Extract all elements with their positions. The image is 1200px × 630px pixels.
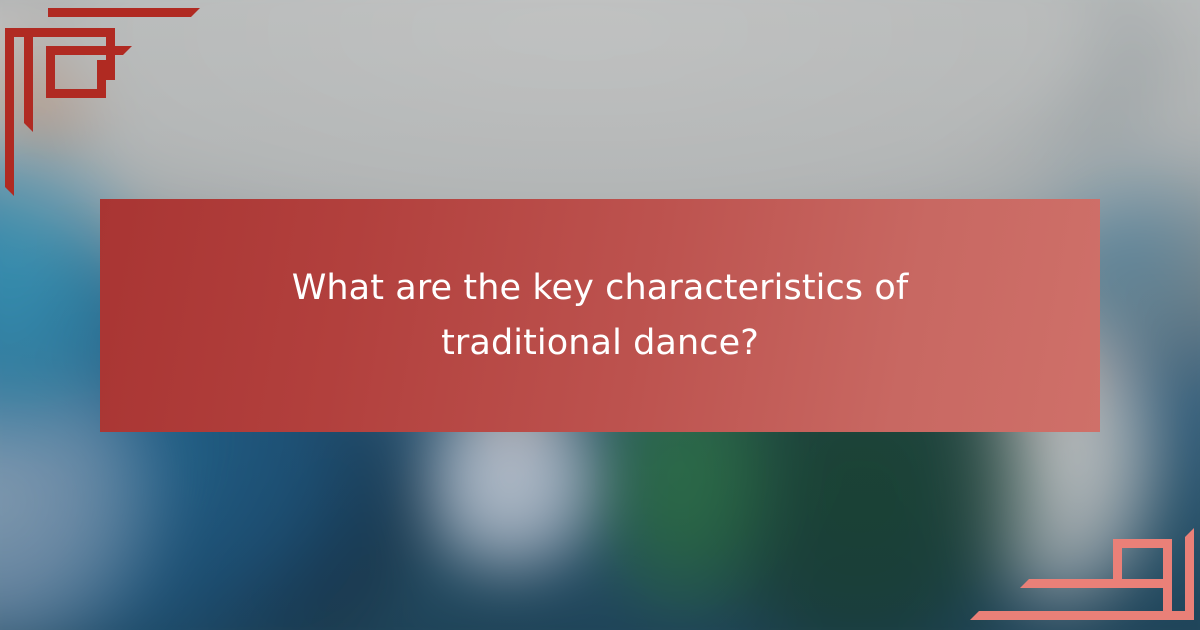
ornament-bar-inner-descender [24, 28, 33, 132]
ornament-bar-top-long [48, 8, 200, 17]
ornament-bar-inner-right [97, 60, 106, 98]
ornament-br-bar-bottom-long [970, 611, 1192, 620]
ornament-bar-outer-hook-top [5, 28, 115, 37]
ornament-br-bar-inner-top [1114, 539, 1172, 548]
question-banner: What are the key characteristics of trad… [100, 199, 1100, 432]
ornament-br-bar-inner-vertical [1163, 539, 1172, 611]
corner-ornament-bottom-right [970, 520, 1200, 630]
ornament-bar-left-outer [5, 28, 14, 196]
question-card: What are the key characteristics of trad… [0, 0, 1200, 630]
ornament-bar-second-long [46, 46, 132, 55]
corner-ornament-top-left [0, 0, 230, 215]
ornament-br-bar-right-outer [1185, 528, 1194, 620]
question-title: What are the key characteristics of trad… [200, 261, 1000, 370]
ornament-br-bar-inner-left [1113, 539, 1122, 588]
ornament-br-bar-upper-long [1020, 579, 1170, 588]
